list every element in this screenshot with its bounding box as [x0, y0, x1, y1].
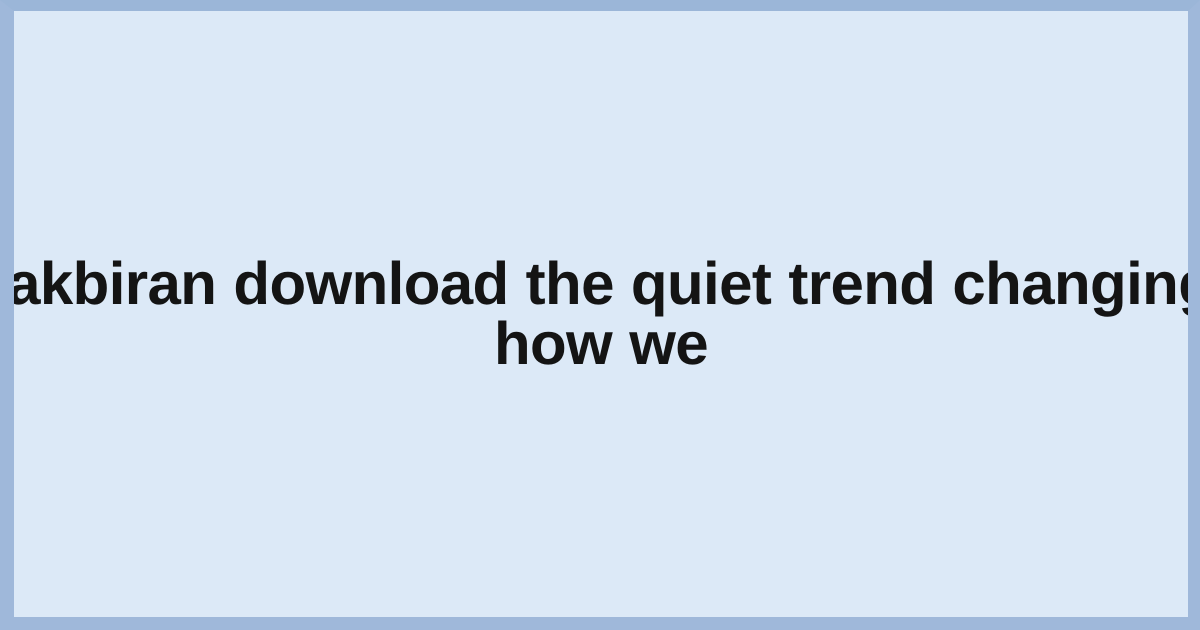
card-canvas: takbiran download the quiet trend changi…	[14, 11, 1188, 617]
headline-container: takbiran download the quiet trend changi…	[14, 254, 1188, 374]
page-title: takbiran download the quiet trend changi…	[14, 254, 1188, 374]
share-card: takbiran download the quiet trend changi…	[0, 0, 1200, 630]
